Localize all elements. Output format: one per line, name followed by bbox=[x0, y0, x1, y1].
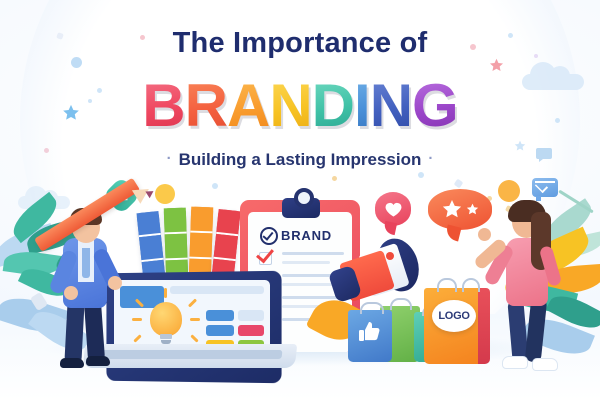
logo-badge: LOGO bbox=[432, 300, 476, 332]
subtitle-bullet-left: · bbox=[160, 150, 179, 167]
bag-handle bbox=[437, 278, 457, 292]
star-icon bbox=[441, 199, 463, 220]
check-circle-icon bbox=[260, 227, 278, 245]
subtitle-bullet-right: · bbox=[421, 150, 440, 167]
star-bubble bbox=[428, 189, 492, 230]
confetti-dot bbox=[418, 172, 424, 178]
man-leg bbox=[64, 300, 84, 365]
wordmark-letter-7: G bbox=[412, 72, 458, 139]
bag-handle bbox=[390, 298, 412, 310]
accent-circle-yellow bbox=[155, 184, 175, 204]
message-badge-icon bbox=[532, 178, 558, 197]
bag-handle bbox=[462, 278, 480, 292]
page-title: The Importance of bbox=[0, 27, 600, 60]
clipboard-heading: BRAND bbox=[281, 228, 332, 243]
palette-swatch-green bbox=[164, 208, 188, 281]
man-shoe bbox=[86, 356, 110, 366]
screen-ui-block bbox=[206, 310, 234, 321]
woman-hand bbox=[478, 228, 491, 241]
screen-ui-block bbox=[238, 310, 264, 321]
palette-swatch-orange bbox=[189, 207, 214, 281]
wordmark-letter-1: R bbox=[185, 72, 227, 139]
bag-handle bbox=[360, 302, 384, 314]
wordmark-letter-0: B bbox=[142, 72, 184, 139]
woman-shoe bbox=[532, 358, 558, 371]
man-hand bbox=[64, 286, 78, 300]
heart-icon bbox=[385, 202, 402, 217]
wordmark-letter-4: D bbox=[312, 72, 354, 139]
screen-ui-block bbox=[206, 325, 234, 336]
subtitle-text: Building a Lasting Impression bbox=[179, 150, 422, 169]
woman-shoe bbox=[502, 356, 528, 369]
chat-bubble-icon bbox=[536, 148, 552, 162]
man-hand bbox=[108, 276, 122, 290]
wordmark-branding: BRANDING bbox=[0, 76, 600, 136]
screen-ui-block bbox=[238, 325, 264, 336]
thumbs-up-icon bbox=[359, 320, 381, 344]
star-decor-icon bbox=[489, 58, 504, 73]
poster-canvas: The Importance of BRANDING ·Building a L… bbox=[0, 0, 600, 400]
screen-ui-block bbox=[170, 286, 264, 294]
star-icon bbox=[466, 203, 479, 216]
page-subtitle: ·Building a Lasting Impression· bbox=[0, 150, 600, 170]
heart-bubble bbox=[375, 192, 411, 226]
confetti-dot bbox=[332, 176, 337, 181]
man-shoe bbox=[60, 358, 84, 368]
wordmark-letter-6: N bbox=[370, 72, 412, 139]
accent-circle-orange bbox=[498, 180, 520, 202]
wordmark-letter-5: I bbox=[354, 72, 370, 139]
man-tie bbox=[82, 248, 90, 278]
confetti-dot bbox=[212, 183, 218, 189]
wordmark-letter-2: A bbox=[227, 72, 269, 139]
wordmark-letter-3: N bbox=[269, 72, 311, 139]
